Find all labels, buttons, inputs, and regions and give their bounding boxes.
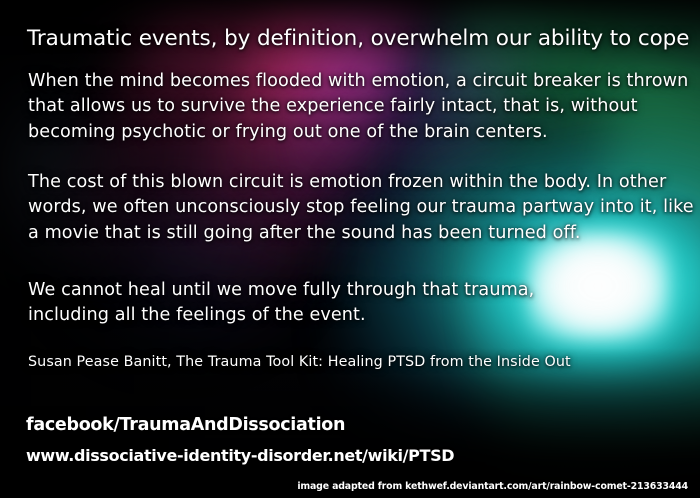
body-paragraph-2: The cost of this blown circuit is emotio… bbox=[28, 170, 694, 246]
body-paragraph-1: When the mind becomes flooded with emoti… bbox=[28, 69, 688, 145]
footer-website-link[interactable]: www.dissociative-identity-disorder.net/w… bbox=[26, 446, 454, 465]
poster-text-content: Traumatic events, by definition, overwhe… bbox=[0, 0, 700, 498]
poster-image: Traumatic events, by definition, overwhe… bbox=[0, 0, 700, 498]
page-title: Traumatic events, by definition, overwhe… bbox=[27, 26, 689, 52]
footer-facebook-link[interactable]: facebook/TraumaAndDissociation bbox=[26, 415, 345, 435]
quote-attribution: Susan Pease Banitt, The Trauma Tool Kit:… bbox=[28, 353, 571, 372]
image-credit-text: image adapted from kethwef.deviantart.co… bbox=[297, 481, 688, 492]
body-paragraph-3: We cannot heal until we move fully throu… bbox=[28, 278, 534, 329]
